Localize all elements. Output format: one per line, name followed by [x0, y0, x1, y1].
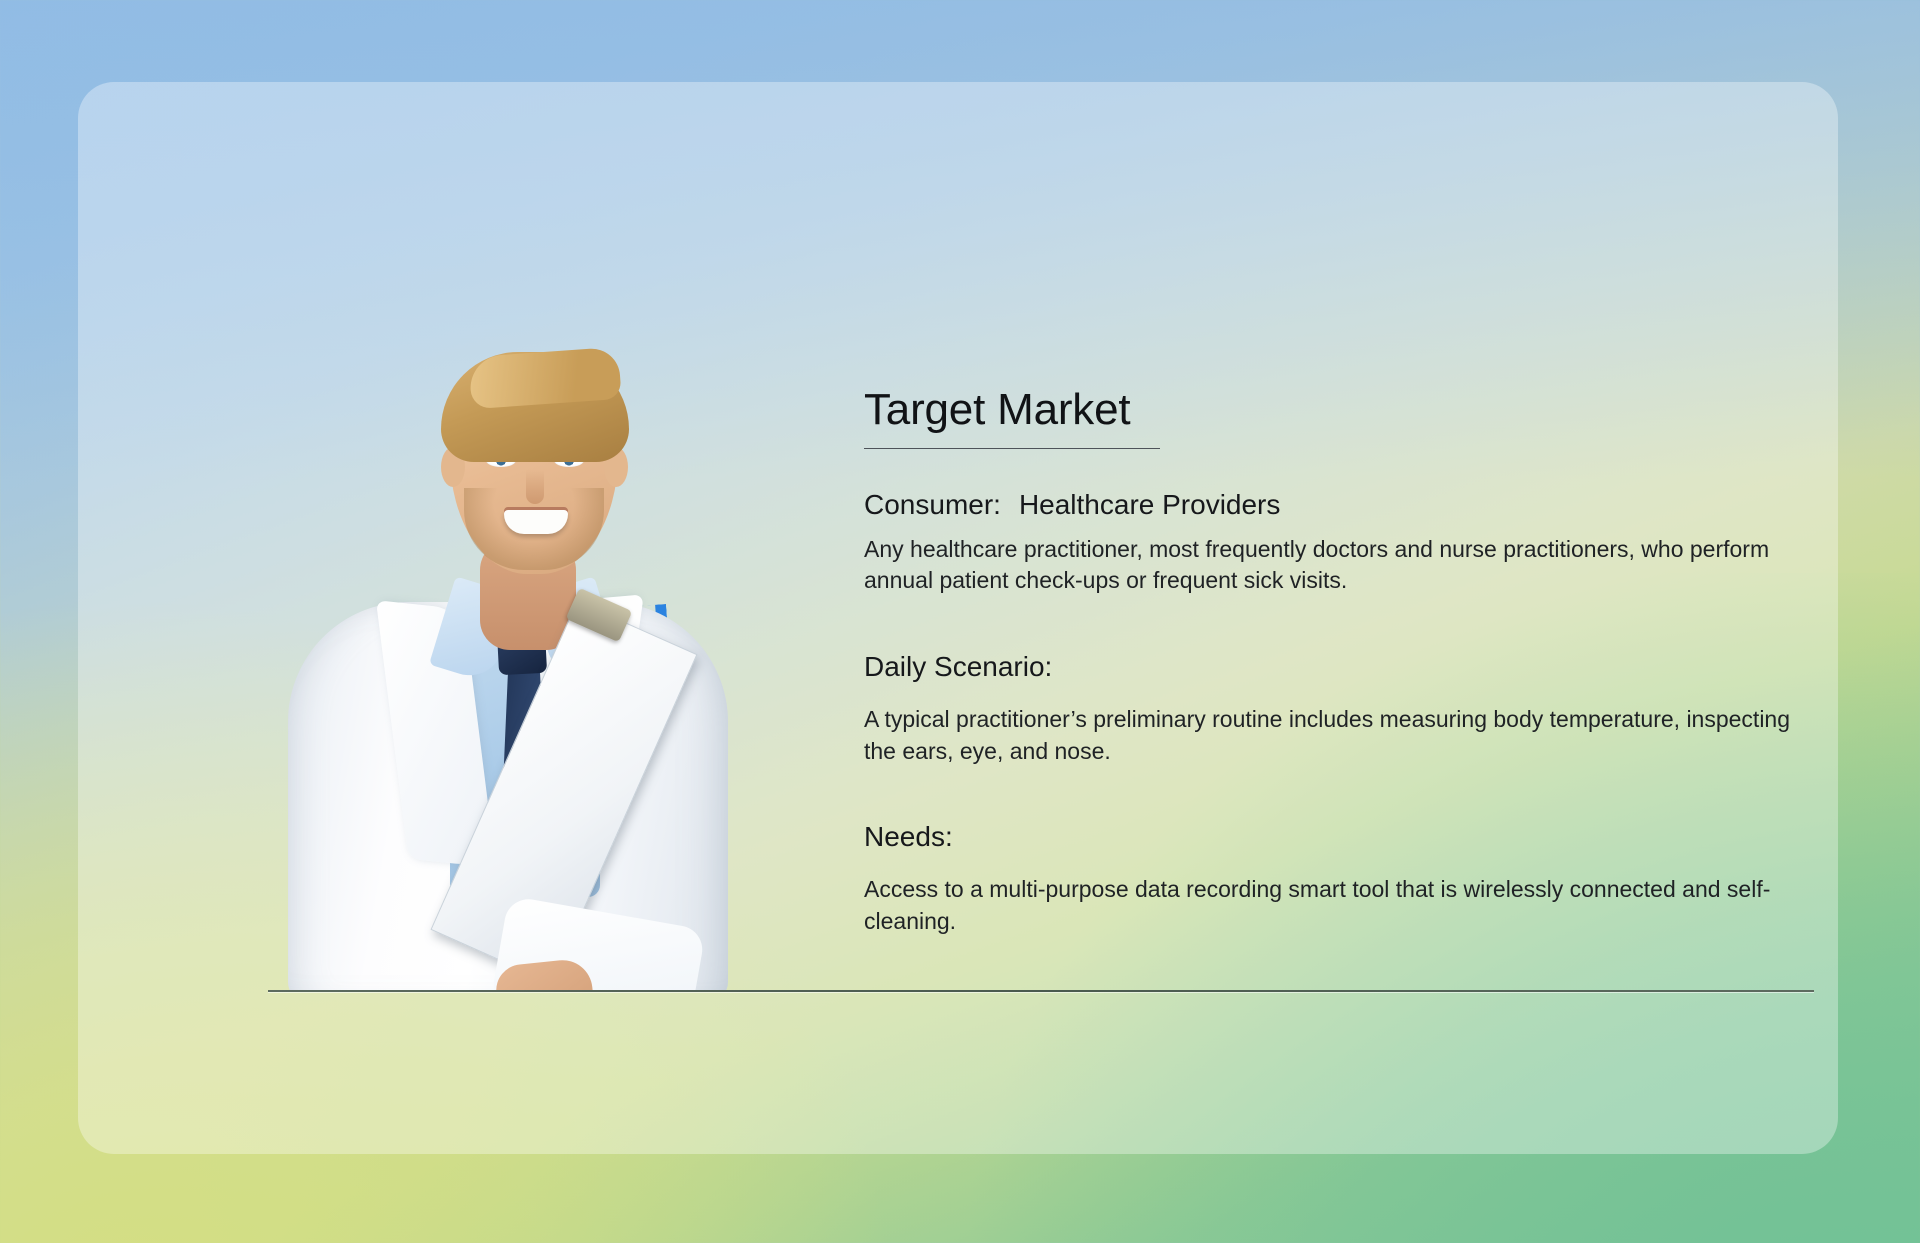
bottom-divider	[268, 990, 1814, 992]
spacer	[864, 449, 1824, 487]
spacer	[864, 684, 1824, 704]
section-consumer: Consumer:Healthcare Providers Any health…	[864, 487, 1824, 597]
spacer	[864, 854, 1824, 874]
section-body: Access to a multi-purpose data recording…	[864, 874, 1814, 937]
smiling-mouth	[504, 510, 568, 534]
spacer	[864, 767, 1824, 819]
section-heading: Daily Scenario:	[864, 649, 1824, 684]
photo-bottom-fade	[198, 962, 818, 992]
doctor-illustration	[198, 312, 818, 992]
section-body: A typical practitioner’s preliminary rou…	[864, 704, 1814, 767]
section-label: Needs:	[864, 821, 953, 852]
section-label: Consumer:	[864, 489, 1001, 520]
hair-sweep	[468, 347, 621, 409]
section-heading: Consumer:Healthcare Providers	[864, 487, 1824, 522]
section-heading: Needs:	[864, 819, 1824, 854]
section-label: Daily Scenario:	[864, 651, 1052, 682]
spacer	[864, 522, 1824, 534]
page-title: Target Market	[864, 386, 1824, 434]
section-value: Healthcare Providers	[1019, 489, 1280, 520]
section-daily-scenario: Daily Scenario: A typical practitioner’s…	[864, 649, 1824, 767]
nose	[526, 470, 544, 504]
section-needs: Needs: Access to a multi-purpose data re…	[864, 819, 1824, 937]
content-column: Target Market Consumer:Healthcare Provid…	[864, 386, 1824, 938]
slide-card: Target Market Consumer:Healthcare Provid…	[78, 82, 1838, 1154]
section-body: Any healthcare practitioner, most freque…	[864, 534, 1814, 597]
spacer	[864, 597, 1824, 649]
doctor-photo	[198, 312, 818, 992]
